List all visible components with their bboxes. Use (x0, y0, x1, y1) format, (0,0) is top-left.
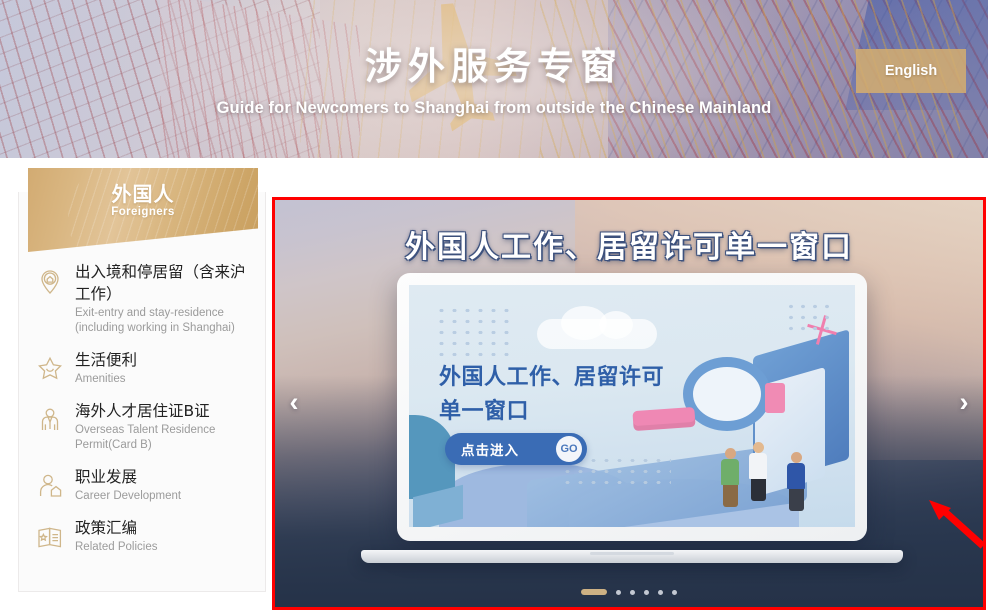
carousel-next-button[interactable]: › (951, 382, 977, 422)
sidebar-panel: 出入境和停居留（含来沪工作） Exit-entry and stay-resid… (18, 192, 266, 592)
book-star-icon (33, 520, 67, 554)
hero-banner: 涉外服务专窗 Guide for Newcomers to Shanghai f… (0, 0, 988, 158)
sidebar-item-label-cn: 政策汇编 (75, 517, 253, 539)
carousel-indicators[interactable] (275, 589, 983, 595)
person-tie-icon (33, 403, 67, 437)
dot-grid-right-icon (785, 301, 833, 337)
laptop-notch (590, 552, 674, 555)
sidebar-item-texts: 出入境和停居留（含来沪工作） Exit-entry and stay-resid… (75, 260, 253, 336)
laptop-lid: 外国人工作、居留许可 单一窗口 点击进入 GO (397, 273, 867, 541)
laptop-base (361, 550, 903, 563)
star-smile-icon (33, 352, 67, 386)
sidebar-item-related-policies[interactable]: 政策汇编 Related Policies (19, 510, 267, 561)
carousel[interactable]: 外国人工作、居留许可单一窗口 (272, 197, 986, 610)
language-switch-button[interactable]: English (856, 49, 966, 93)
sidebar-item-label-en: Related Policies (75, 540, 253, 555)
sidebar-item-label-cn: 职业发展 (75, 466, 253, 488)
tab-label-en: Foreigners (28, 206, 258, 218)
laptop-screen: 外国人工作、居留许可 单一窗口 点击进入 GO (409, 285, 855, 527)
sidebar-item-label-en: Overseas Talent Residence Permit(Card B) (75, 423, 253, 453)
carousel-indicator-4[interactable] (644, 590, 649, 595)
sidebar-item-texts: 职业发展 Career Development (75, 465, 253, 504)
page-subtitle: Guide for Newcomers to Shanghai from out… (0, 99, 988, 118)
person-blue-figure (787, 452, 805, 511)
pink-stack-icon (765, 383, 785, 413)
person-home-icon (33, 469, 67, 503)
sidebar-nav-list: 出入境和停居留（含来沪工作） Exit-entry and stay-resid… (19, 254, 267, 561)
sidebar-item-texts: 海外人才居住证B证 Overseas Talent Residence Perm… (75, 399, 253, 453)
sidebar-item-residence-permit[interactable]: 海外人才居住证B证 Overseas Talent Residence Perm… (19, 393, 267, 459)
person-white-shirt-figure (749, 442, 767, 501)
sidebar-item-label-en: Career Development (75, 489, 253, 504)
person-green-figure (721, 448, 739, 507)
sidebar-item-exit-entry[interactable]: 出入境和停居留（含来沪工作） Exit-entry and stay-resid… (19, 254, 267, 342)
slide-heading-line1: 外国人工作、居留许可 (439, 361, 729, 395)
enter-cta-label: 点击进入 (461, 439, 519, 459)
sidebar-item-label-cn: 出入境和停居留（含来沪工作） (75, 261, 253, 305)
slide-heading: 外国人工作、居留许可 单一窗口 (439, 361, 729, 429)
page-title: 涉外服务专窗 (0, 36, 988, 90)
sidebar-item-career-development[interactable]: 职业发展 Career Development (19, 459, 267, 510)
cloud-icon (537, 319, 657, 349)
carousel-indicator-3[interactable] (630, 590, 635, 595)
enter-cta-button[interactable]: 点击进入 GO (445, 433, 587, 465)
tab-label-cn: 外国人 (28, 178, 258, 207)
annotation-arrow-icon (925, 498, 987, 550)
carousel-indicator-2[interactable] (616, 590, 621, 595)
carousel-indicator-1[interactable] (581, 589, 607, 595)
laptop-illustration: 外国人工作、居留许可 单一窗口 点击进入 GO (397, 273, 867, 563)
page-root: 涉外服务专窗 Guide for Newcomers to Shanghai f… (0, 0, 988, 612)
carousel-prev-button[interactable]: ‹ (281, 382, 307, 422)
sidebar-item-texts: 生活便利 Amenities (75, 348, 253, 387)
sidebar-item-label-cn: 海外人才居住证B证 (75, 400, 253, 422)
carousel-indicator-5[interactable] (658, 590, 663, 595)
sidebar-item-label-en: Exit-entry and stay-residence (including… (75, 306, 253, 336)
sidebar-item-amenities[interactable]: 生活便利 Amenities (19, 342, 267, 393)
go-badge: GO (556, 436, 582, 462)
dot-grid-left-icon (435, 305, 513, 361)
carousel-indicator-6[interactable] (672, 590, 677, 595)
slide-heading-line2: 单一窗口 (439, 395, 729, 429)
map-pin-home-icon (33, 264, 67, 298)
sidebar-item-label-cn: 生活便利 (75, 349, 253, 371)
carousel-banner-title: 外国人工作、居留许可单一窗口 (275, 222, 983, 266)
sidebar-item-texts: 政策汇编 Related Policies (75, 516, 253, 555)
sidebar-item-label-en: Amenities (75, 372, 253, 387)
